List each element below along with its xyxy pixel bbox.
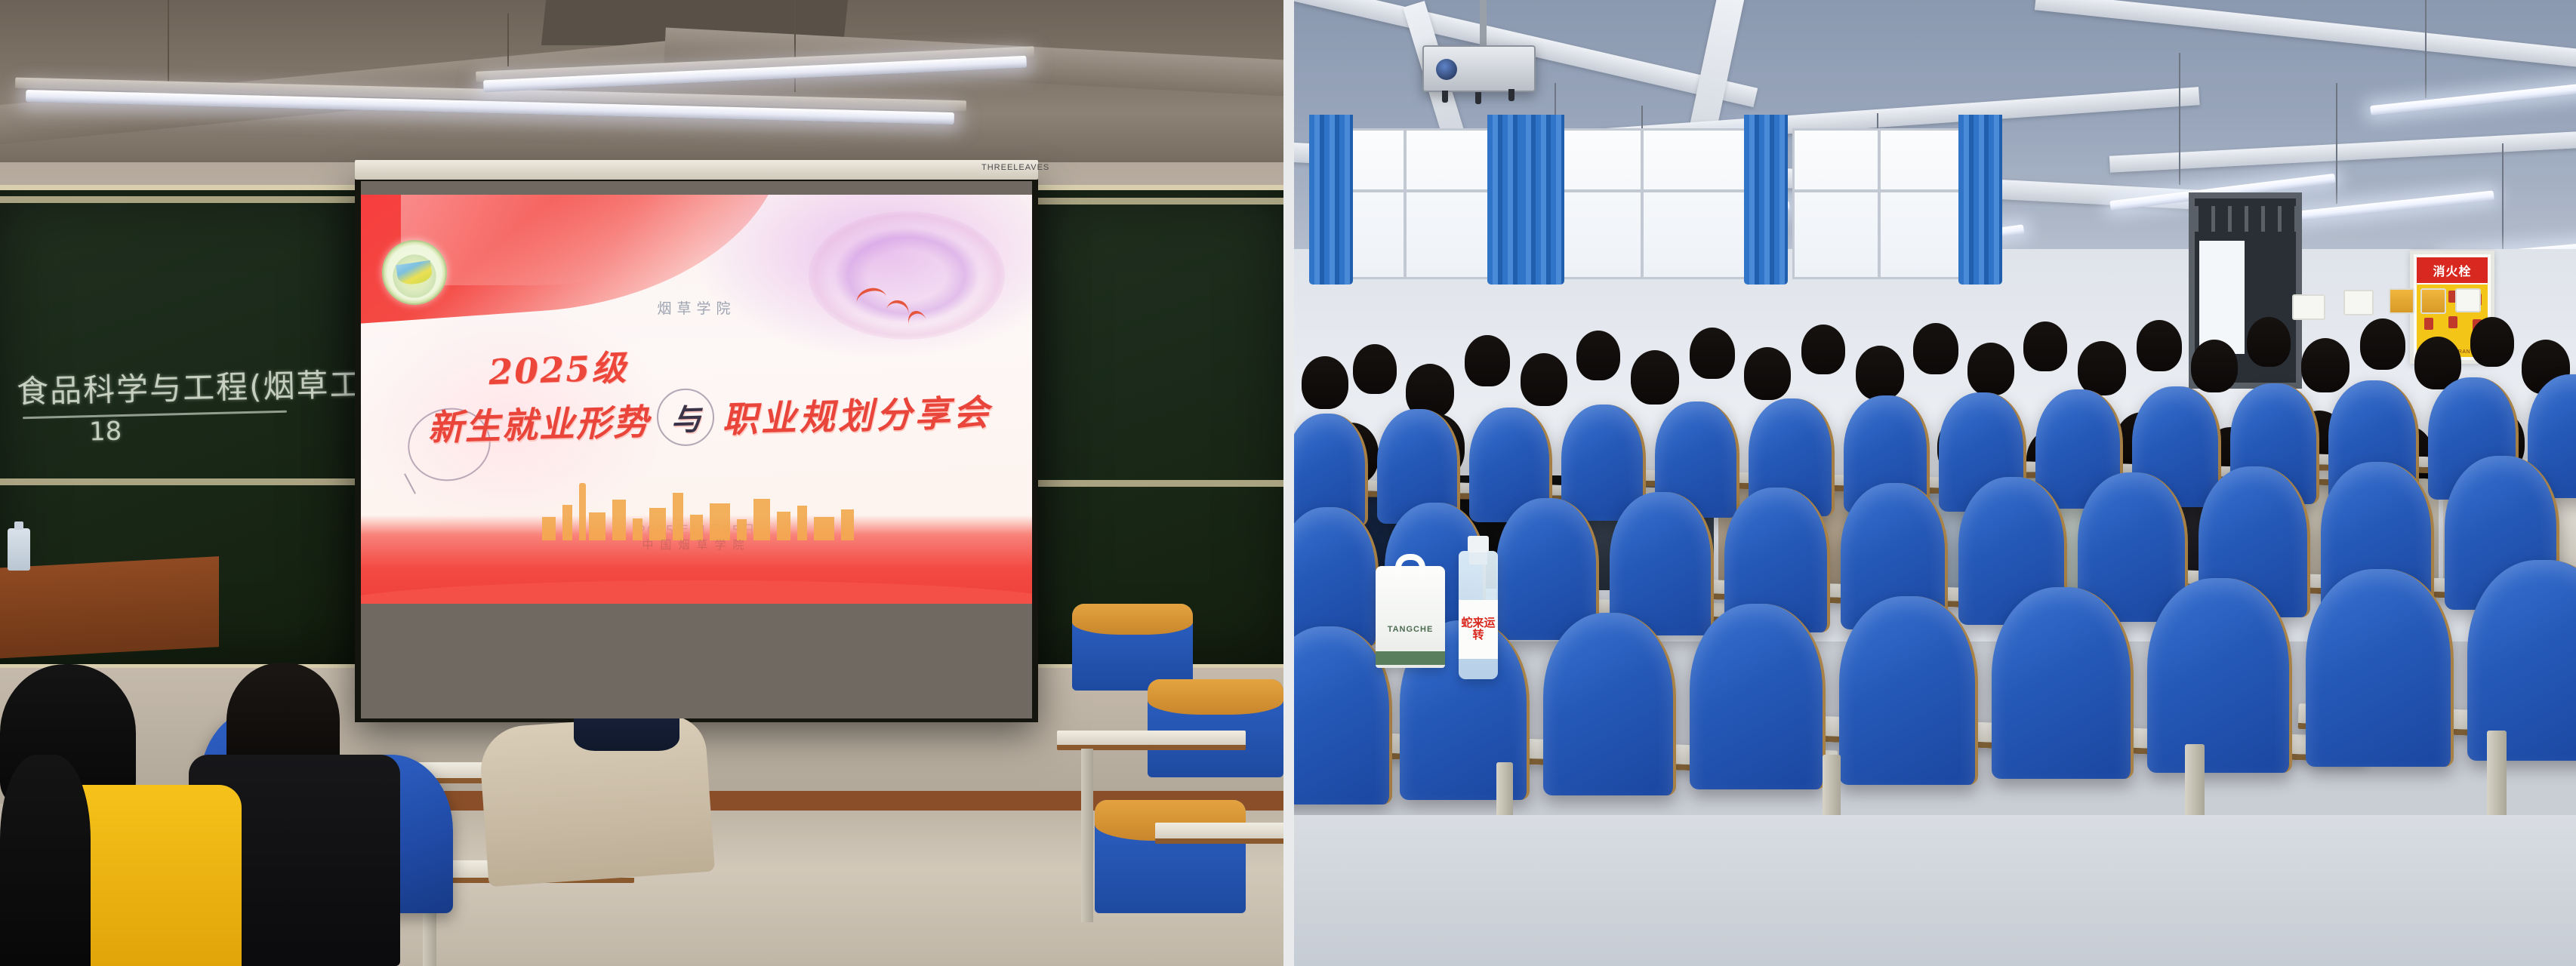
lecture-chair	[1839, 596, 1978, 785]
window-transom	[1795, 189, 1964, 192]
classroom-window	[1536, 128, 1747, 279]
fire-hydrant-label-zh: 消火栓	[2433, 261, 2471, 279]
bottle-cap	[1468, 536, 1489, 552]
classroom-window	[1792, 128, 1966, 279]
screen-brand-label: THREELEAVES	[981, 163, 1049, 172]
desk-leg	[1081, 749, 1093, 922]
wall-plate-amber	[2389, 288, 2414, 314]
light-hanger	[2179, 53, 2180, 185]
audience-head	[1465, 335, 1510, 386]
lecture-chair	[1294, 507, 1379, 646]
projector-foot	[1475, 92, 1481, 104]
slide-wave	[361, 580, 1032, 606]
screen-roller-housing	[355, 160, 1038, 180]
wall-plate	[2343, 290, 2374, 315]
slide-watermark: 中国烟草学院	[361, 537, 1032, 552]
light-hanger	[2502, 143, 2504, 249]
window-curtain	[1958, 115, 2002, 285]
light-chain	[507, 14, 509, 66]
blackboard-rail	[0, 478, 355, 485]
right-photo-panel: 消火栓 FIRE HYDRANT	[1294, 0, 2576, 966]
panel-divider	[1283, 0, 1294, 966]
window-curtain	[1521, 115, 1564, 285]
light-chain	[168, 0, 169, 89]
photo-collage: 食品科学与工程(烟草工程) 18 THREELEAVES 烟草学院 2025级	[0, 0, 2576, 966]
bottle-label: 蛇来运转	[1459, 600, 1498, 659]
screen-blank-bottom	[361, 604, 1032, 718]
light-hanger	[2336, 83, 2337, 204]
audience-head	[1302, 356, 1348, 409]
audience-head	[2360, 318, 2405, 370]
student-hair-foreground	[0, 755, 91, 966]
water-bottle: 蛇来运转	[1459, 551, 1498, 679]
audience-head	[1801, 325, 1845, 374]
desk	[1155, 823, 1283, 844]
slide-year-line: 2025级	[488, 340, 628, 395]
audience-head	[1353, 344, 1397, 394]
stool-top	[1072, 604, 1193, 635]
wall-plate	[2455, 288, 2481, 312]
audience-head	[1744, 347, 1791, 400]
plastic-bag: TANGCHE	[1376, 566, 1445, 668]
window-mullion	[1878, 131, 1881, 277]
audience-head	[2247, 317, 2291, 367]
window-mullion	[1404, 131, 1407, 277]
audience-head	[2191, 340, 2238, 392]
presentation-slide: 烟草学院 2025级 新生就业形势 与 职业规划分享会 2025年11月25日	[361, 195, 1032, 606]
audience-head	[1856, 346, 1904, 400]
projector-foot	[1508, 89, 1514, 101]
wall-plate-amber	[2420, 288, 2446, 314]
lecture-chair	[2306, 569, 2454, 767]
audience-head	[1913, 323, 1958, 374]
blackboard-right	[1034, 185, 1283, 668]
audience-head	[2301, 338, 2350, 392]
stool	[1072, 604, 1193, 691]
window-mullion	[1641, 131, 1644, 277]
slide-title-part1: 新生就业形势	[427, 392, 651, 451]
lectern	[0, 556, 219, 659]
stool	[1148, 679, 1283, 777]
slide-ribbon-sheen	[401, 195, 750, 285]
lecture-chair	[1543, 613, 1676, 795]
lecture-chair	[1992, 587, 2134, 779]
slide-title-part2: 职业规划分享会	[722, 383, 993, 442]
right-floor	[1294, 815, 2576, 966]
slide-title-connector: 与	[657, 388, 716, 447]
window-transom	[1538, 189, 1745, 192]
audience-head	[1521, 353, 1567, 406]
light-chain	[794, 0, 796, 92]
skyline-icon	[535, 483, 871, 540]
audience-head	[2078, 341, 2126, 395]
audience-head	[1690, 328, 1735, 379]
blackboard-subtext: 18	[89, 417, 122, 448]
audience-head	[2023, 321, 2067, 371]
door-grille	[2195, 206, 2296, 232]
lectern-bottle	[8, 528, 30, 571]
stool-top	[1148, 679, 1283, 715]
projector-lens-icon	[1436, 59, 1457, 80]
university-crest-icon	[382, 240, 447, 305]
audience-head	[2137, 320, 2182, 371]
slide-tick-decoration	[404, 473, 416, 494]
ceiling-projector	[1422, 45, 1536, 92]
bag-brand-label: TANGCHE	[1376, 625, 1445, 634]
window-curtain	[1309, 115, 1353, 285]
desk	[1057, 731, 1246, 750]
bottle-label-text: 蛇来运转	[1459, 617, 1498, 641]
bag-handle	[1395, 554, 1425, 575]
lecture-chair	[2147, 578, 2292, 773]
projector-foot	[1442, 91, 1448, 103]
lecture-chair	[1690, 604, 1826, 789]
audience-head	[2470, 317, 2514, 367]
blackboard-rail	[0, 196, 355, 203]
slide-organization: 烟草学院	[361, 297, 1032, 318]
audience-head	[1576, 331, 1620, 380]
window-curtain	[1744, 115, 1788, 285]
audience-head	[1967, 343, 2014, 395]
light-hanger	[2425, 0, 2427, 98]
wall-plate	[2292, 294, 2325, 320]
fire-hydrant-header: 消火栓	[2417, 257, 2488, 283]
bottle-neck	[1469, 551, 1487, 565]
blackboard-underline	[23, 411, 287, 420]
blackboard-rail	[1034, 480, 1283, 487]
blackboard-text: 食品科学与工程(烟草工程)	[16, 358, 410, 413]
left-photo-panel: 食品科学与工程(烟草工程) 18 THREELEAVES 烟草学院 2025级	[0, 0, 1283, 966]
bag-stripe	[1376, 651, 1445, 665]
stool	[1095, 800, 1246, 913]
blackboard-rail	[1034, 198, 1283, 205]
audience-head	[1631, 350, 1679, 405]
